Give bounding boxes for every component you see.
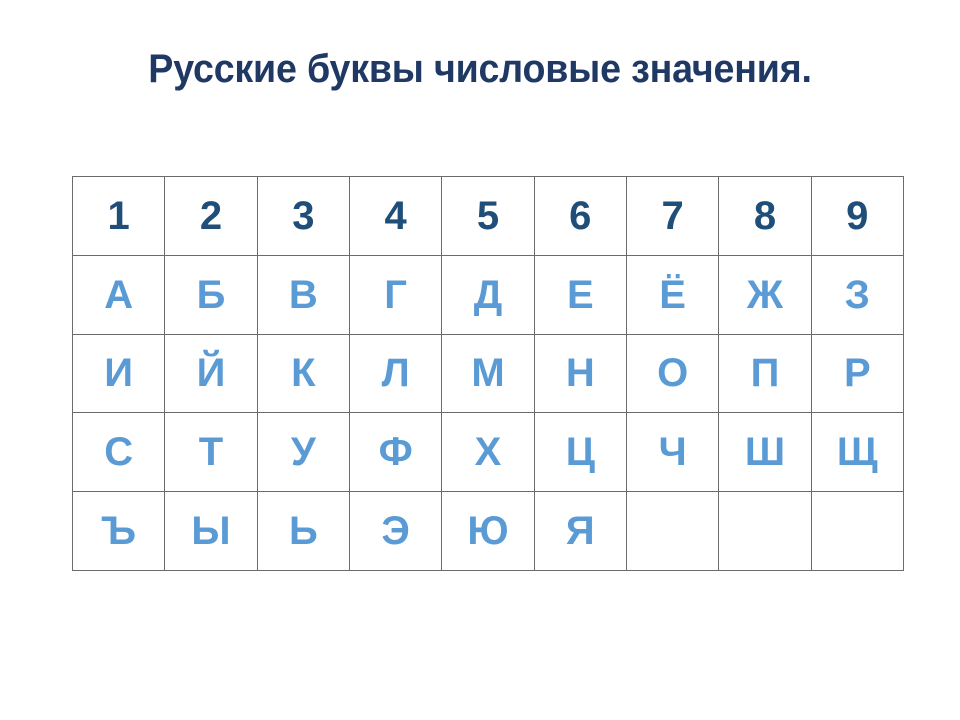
letter-cell-r3c4: Ф	[349, 413, 441, 492]
letter-cell-r2c3: К	[257, 334, 349, 413]
letter-cell-r1c5: Д	[442, 255, 534, 334]
letter-cell-r3c5: Х	[442, 413, 534, 492]
letter-cell-r1c2: Б	[165, 255, 257, 334]
letter-cell-r1c4: Г	[349, 255, 441, 334]
number-cell-6: 6	[534, 177, 626, 256]
letter-cell-r2c2: Й	[165, 334, 257, 413]
letter-cell-r4c1: Ъ	[73, 492, 165, 571]
letter-cell-r3c6: Ц	[534, 413, 626, 492]
table-body: 1 2 3 4 5 6 7 8 9 А Б В Г Д Е Ё	[73, 177, 904, 571]
letter-cell-r3c3: У	[257, 413, 349, 492]
number-cell-2: 2	[165, 177, 257, 256]
number-cell-4: 4	[349, 177, 441, 256]
letter-cell-r2c1: И	[73, 334, 165, 413]
number-cell-7: 7	[626, 177, 718, 256]
letter-cell-r3c1: С	[73, 413, 165, 492]
slide-canvas: Русские буквы числовые значения. 1 2 3 4…	[0, 0, 960, 720]
empty-cell-r4c7	[626, 492, 718, 571]
letter-cell-r4c2: Ы	[165, 492, 257, 571]
letter-values-table-wrapper: 1 2 3 4 5 6 7 8 9 А Б В Г Д Е Ё	[72, 176, 903, 565]
letter-cell-r2c8: П	[719, 334, 811, 413]
letter-cell-r1c7: Ё	[626, 255, 718, 334]
letter-cell-r3c2: Т	[165, 413, 257, 492]
letter-cell-r2c6: Н	[534, 334, 626, 413]
letter-cell-r1c3: В	[257, 255, 349, 334]
letter-cell-r2c9: Р	[811, 334, 903, 413]
letter-cell-r1c9: З	[811, 255, 903, 334]
letter-cell-r4c3: Ь	[257, 492, 349, 571]
number-cell-3: 3	[257, 177, 349, 256]
table-row-letters-4: Ъ Ы Ь Э Ю Я	[73, 492, 904, 571]
letter-cell-r3c8: Ш	[719, 413, 811, 492]
number-cell-8: 8	[719, 177, 811, 256]
letter-cell-r2c5: М	[442, 334, 534, 413]
letter-cell-r1c6: Е	[534, 255, 626, 334]
letter-cell-r3c9: Щ	[811, 413, 903, 492]
number-cell-9: 9	[811, 177, 903, 256]
letter-cell-r2c4: Л	[349, 334, 441, 413]
empty-cell-r4c9	[811, 492, 903, 571]
letter-cell-r4c5: Ю	[442, 492, 534, 571]
empty-cell-r4c8	[719, 492, 811, 571]
page-title: Русские буквы числовые значения.	[29, 45, 931, 93]
letter-values-table: 1 2 3 4 5 6 7 8 9 А Б В Г Д Е Ё	[72, 176, 904, 571]
number-cell-1: 1	[73, 177, 165, 256]
letter-cell-r4c6: Я	[534, 492, 626, 571]
table-row-letters-1: А Б В Г Д Е Ё Ж З	[73, 255, 904, 334]
letter-cell-r4c4: Э	[349, 492, 441, 571]
letter-cell-r1c1: А	[73, 255, 165, 334]
letter-cell-r3c7: Ч	[626, 413, 718, 492]
table-row-letters-2: И Й К Л М Н О П Р	[73, 334, 904, 413]
number-cell-5: 5	[442, 177, 534, 256]
table-row-letters-3: С Т У Ф Х Ц Ч Ш Щ	[73, 413, 904, 492]
letter-cell-r2c7: О	[626, 334, 718, 413]
letter-cell-r1c8: Ж	[719, 255, 811, 334]
table-row-numbers: 1 2 3 4 5 6 7 8 9	[73, 177, 904, 256]
